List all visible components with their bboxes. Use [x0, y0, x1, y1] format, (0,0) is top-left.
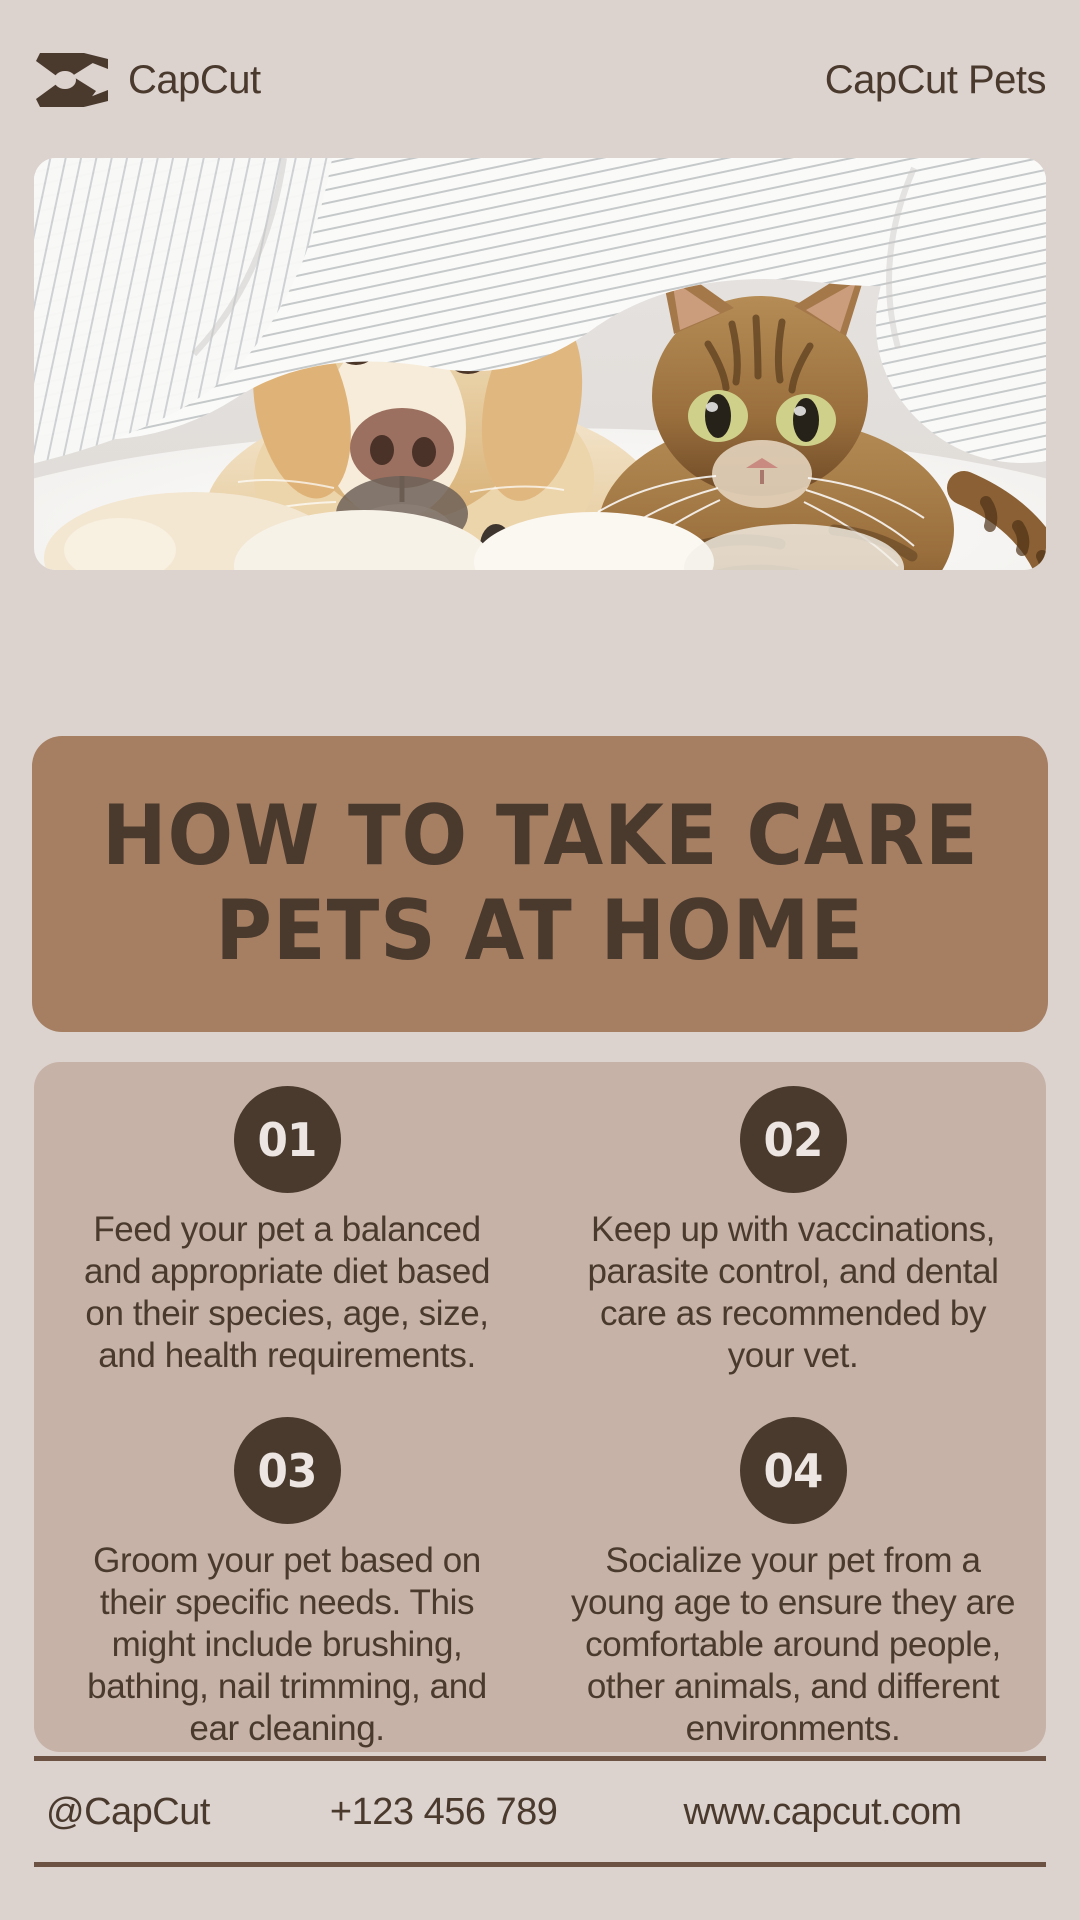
infographic-page: CapCut CapCut Pets: [0, 0, 1080, 1920]
brand-name: CapCut: [128, 58, 261, 103]
tip-number-04: 04: [764, 1444, 823, 1498]
footer-handle[interactable]: @CapCut: [46, 1791, 210, 1834]
hero-photo: [34, 158, 1046, 570]
tip-text-01: Feed your pet a balanced and appropriate…: [62, 1209, 512, 1377]
brand[interactable]: CapCut: [34, 49, 261, 111]
tip-card-01: 01 Feed your pet a balanced and appropri…: [34, 1086, 540, 1377]
tip-number-01: 01: [258, 1113, 317, 1167]
tip-badge-03: 03: [234, 1417, 341, 1524]
footer: @CapCut +123 456 789 www.capcut.com: [34, 1770, 1046, 1854]
tip-badge-04: 04: [740, 1417, 847, 1524]
title-line-2: PETS AT HOME: [216, 885, 865, 978]
tips-grid: 01 Feed your pet a balanced and appropri…: [34, 1086, 1046, 1750]
header-right-label: CapCut Pets: [825, 58, 1046, 103]
tip-card-04: 04 Socialize your pet from a young age t…: [540, 1417, 1046, 1750]
tip-badge-01: 01: [234, 1086, 341, 1193]
tip-card-03: 03 Groom your pet based on their specifi…: [34, 1417, 540, 1750]
capcut-logo-icon: [34, 49, 110, 111]
footer-divider-bottom: [34, 1862, 1046, 1867]
tip-number-03: 03: [258, 1444, 317, 1498]
tip-text-03: Groom your pet based on their specific n…: [62, 1540, 512, 1750]
header: CapCut CapCut Pets: [0, 0, 1080, 160]
tip-text-04: Socialize your pet from a young age to e…: [568, 1540, 1018, 1750]
tip-text-02: Keep up with vaccinations, parasite cont…: [568, 1209, 1018, 1377]
footer-phone[interactable]: +123 456 789: [330, 1791, 558, 1834]
tip-number-02: 02: [764, 1113, 823, 1167]
title-line-1: HOW TO TAKE CARE: [102, 790, 979, 883]
title-banner: HOW TO TAKE CARE PETS AT HOME: [32, 736, 1048, 1032]
footer-divider-top: [34, 1756, 1046, 1761]
tip-card-02: 02 Keep up with vaccinations, parasite c…: [540, 1086, 1046, 1377]
footer-website[interactable]: www.capcut.com: [683, 1791, 961, 1834]
tips-panel: 01 Feed your pet a balanced and appropri…: [34, 1062, 1046, 1752]
tip-badge-02: 02: [740, 1086, 847, 1193]
